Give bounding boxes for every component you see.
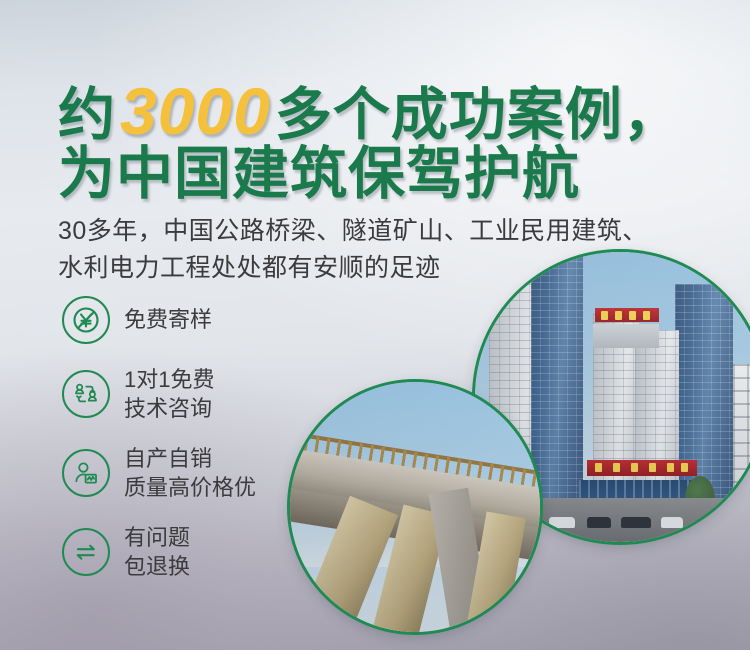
feature-line-1: 有问题: [124, 525, 190, 550]
feature-line-2: 技术咨询: [124, 396, 212, 421]
feature-line-1: 自产自销: [124, 446, 212, 471]
description-line-1: 30多年，中国公路桥梁、隧道矿山、工业民用建筑、: [58, 213, 648, 250]
feature-item-consult: 1对1免费 技术咨询: [62, 365, 256, 423]
feature-item-self-produce: 自产自销 质量高价格优: [62, 444, 256, 502]
headline-prefix: 约: [58, 83, 116, 147]
page-title: 约3000多个成功案例，: [58, 78, 681, 145]
feature-line-1: 免费寄样: [124, 307, 212, 332]
feature-line-1: 1对1免费: [124, 367, 214, 392]
feature-label: 免费寄样: [124, 305, 212, 334]
return-exchange-icon: [62, 528, 110, 576]
photo-tint: [290, 382, 540, 632]
feature-label: 有问题 包退换: [124, 523, 190, 581]
feature-label: 1对1免费 技术咨询: [124, 365, 214, 423]
one-on-one-consult-icon: [62, 370, 110, 418]
headline-suffix: 多个成功案例，: [275, 83, 681, 147]
headline-number: 3000: [116, 74, 275, 148]
feature-line-2: 质量高价格优: [124, 475, 256, 500]
free-sample-icon: [62, 296, 110, 344]
feature-list: 免费寄样 1对1免费 技术咨询: [62, 296, 256, 602]
self-produce-sell-icon: [62, 449, 110, 497]
description-text: 30多年，中国公路桥梁、隧道矿山、工业民用建筑、 水利电力工程处处都有安顺的足迹: [58, 213, 648, 287]
promo-banner: 约3000多个成功案例， 为中国建筑保驾护航 30多年，中国公路桥梁、隧道矿山、…: [0, 0, 750, 650]
feature-item-return-exchange: 有问题 包退换: [62, 523, 256, 581]
bridge-structure-photo: [290, 382, 540, 632]
feature-item-free-sample: 免费寄样: [62, 296, 256, 344]
feature-line-2: 包退换: [124, 554, 190, 579]
page-subtitle-green: 为中国建筑保驾护航: [58, 145, 580, 203]
description-line-2: 水利电力工程处处都有安顺的足迹: [58, 250, 648, 287]
feature-label: 自产自销 质量高价格优: [124, 444, 256, 502]
